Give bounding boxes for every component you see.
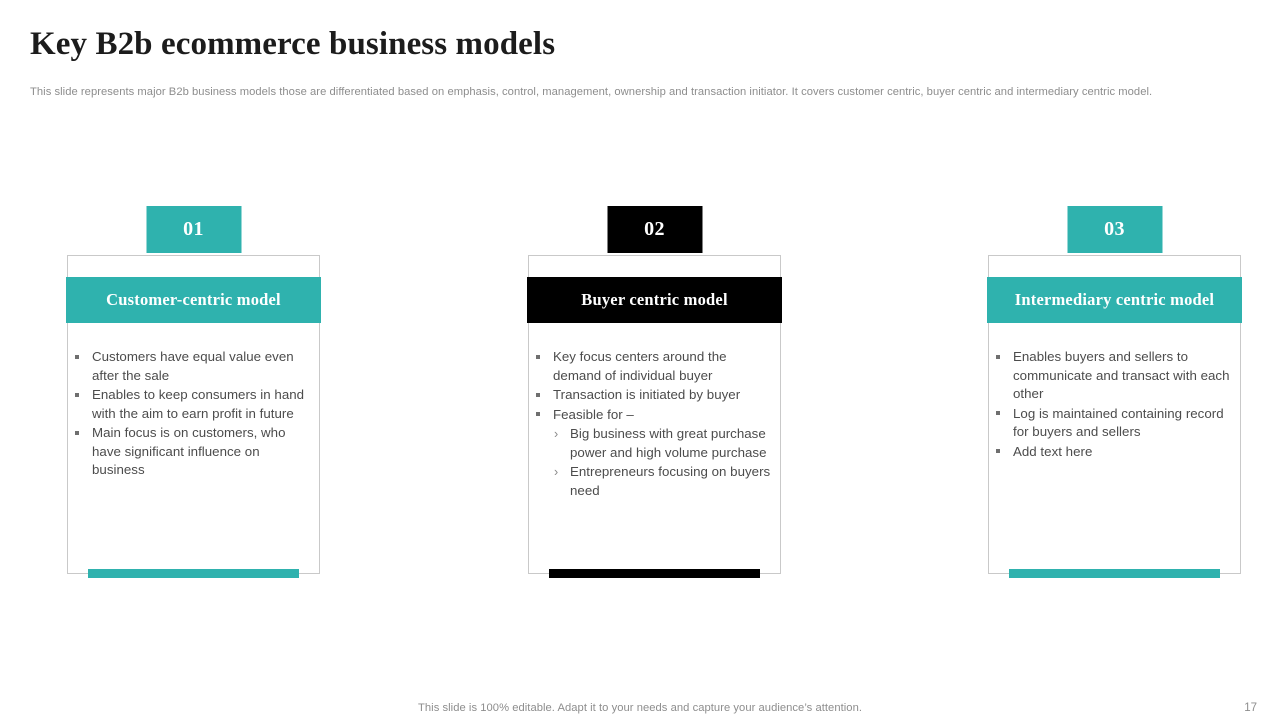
card-number-badge: 02 (607, 206, 702, 253)
square-bullet-icon (72, 348, 92, 367)
card-number-badge: 01 (146, 206, 241, 253)
square-bullet-icon (533, 386, 553, 405)
bullet-text: Enables buyers and sellers to communicat… (1013, 348, 1236, 404)
bullet-text: Main focus is on customers, who have sig… (92, 424, 315, 480)
square-bullet-icon (993, 348, 1013, 367)
bullet-item: Enables to keep consumers in hand with t… (72, 386, 315, 423)
bullet-item: Enables buyers and sellers to communicat… (993, 348, 1236, 404)
card-accent-bar (88, 569, 299, 578)
model-cards-container: 01Customer-centric modelCustomers have e… (0, 0, 1280, 720)
bullet-text: Customers have equal value even after th… (92, 348, 315, 385)
bullet-item: Customers have equal value even after th… (72, 348, 315, 385)
card-accent-bar (1009, 569, 1220, 578)
bullet-item: Log is maintained containing record for … (993, 405, 1236, 442)
card-title-band: Intermediary centric model (987, 277, 1242, 323)
sub-bullet-item: ›Big business with great purchase power … (533, 425, 776, 462)
bullet-text: Feasible for – (553, 406, 776, 425)
square-bullet-icon (72, 386, 92, 405)
chevron-bullet-icon: › (553, 463, 570, 482)
bullet-item: Add text here (993, 443, 1236, 462)
bullet-text: Key focus centers around the demand of i… (553, 348, 776, 385)
card-title-band: Buyer centric model (527, 277, 782, 323)
bullet-item: Transaction is initiated by buyer (533, 386, 776, 405)
square-bullet-icon (533, 348, 553, 367)
bullet-text: Log is maintained containing record for … (1013, 405, 1236, 442)
card-accent-bar (549, 569, 760, 578)
bullet-text: Add text here (1013, 443, 1236, 462)
bullet-item: Main focus is on customers, who have sig… (72, 424, 315, 480)
bullet-text: Big business with great purchase power a… (570, 425, 776, 462)
chevron-bullet-icon: › (553, 425, 570, 444)
card-bullet-list: Enables buyers and sellers to communicat… (993, 348, 1236, 462)
square-bullet-icon (993, 443, 1013, 462)
bullet-item: Key focus centers around the demand of i… (533, 348, 776, 385)
page-number: 17 (1244, 702, 1257, 714)
footer-note: This slide is 100% editable. Adapt it to… (0, 702, 1280, 714)
bullet-text: Transaction is initiated by buyer (553, 386, 776, 405)
bullet-item: Feasible for – (533, 406, 776, 425)
card-number-badge: 03 (1067, 206, 1162, 253)
square-bullet-icon (533, 406, 553, 425)
square-bullet-icon (993, 405, 1013, 424)
bullet-text: Entrepreneurs focusing on buyers need (570, 463, 776, 500)
card-title-band: Customer-centric model (66, 277, 321, 323)
card-bullet-list: Customers have equal value even after th… (72, 348, 315, 481)
sub-bullet-item: ›Entrepreneurs focusing on buyers need (533, 463, 776, 500)
card-bullet-list: Key focus centers around the demand of i… (533, 348, 776, 501)
bullet-text: Enables to keep consumers in hand with t… (92, 386, 315, 423)
square-bullet-icon (72, 424, 92, 443)
